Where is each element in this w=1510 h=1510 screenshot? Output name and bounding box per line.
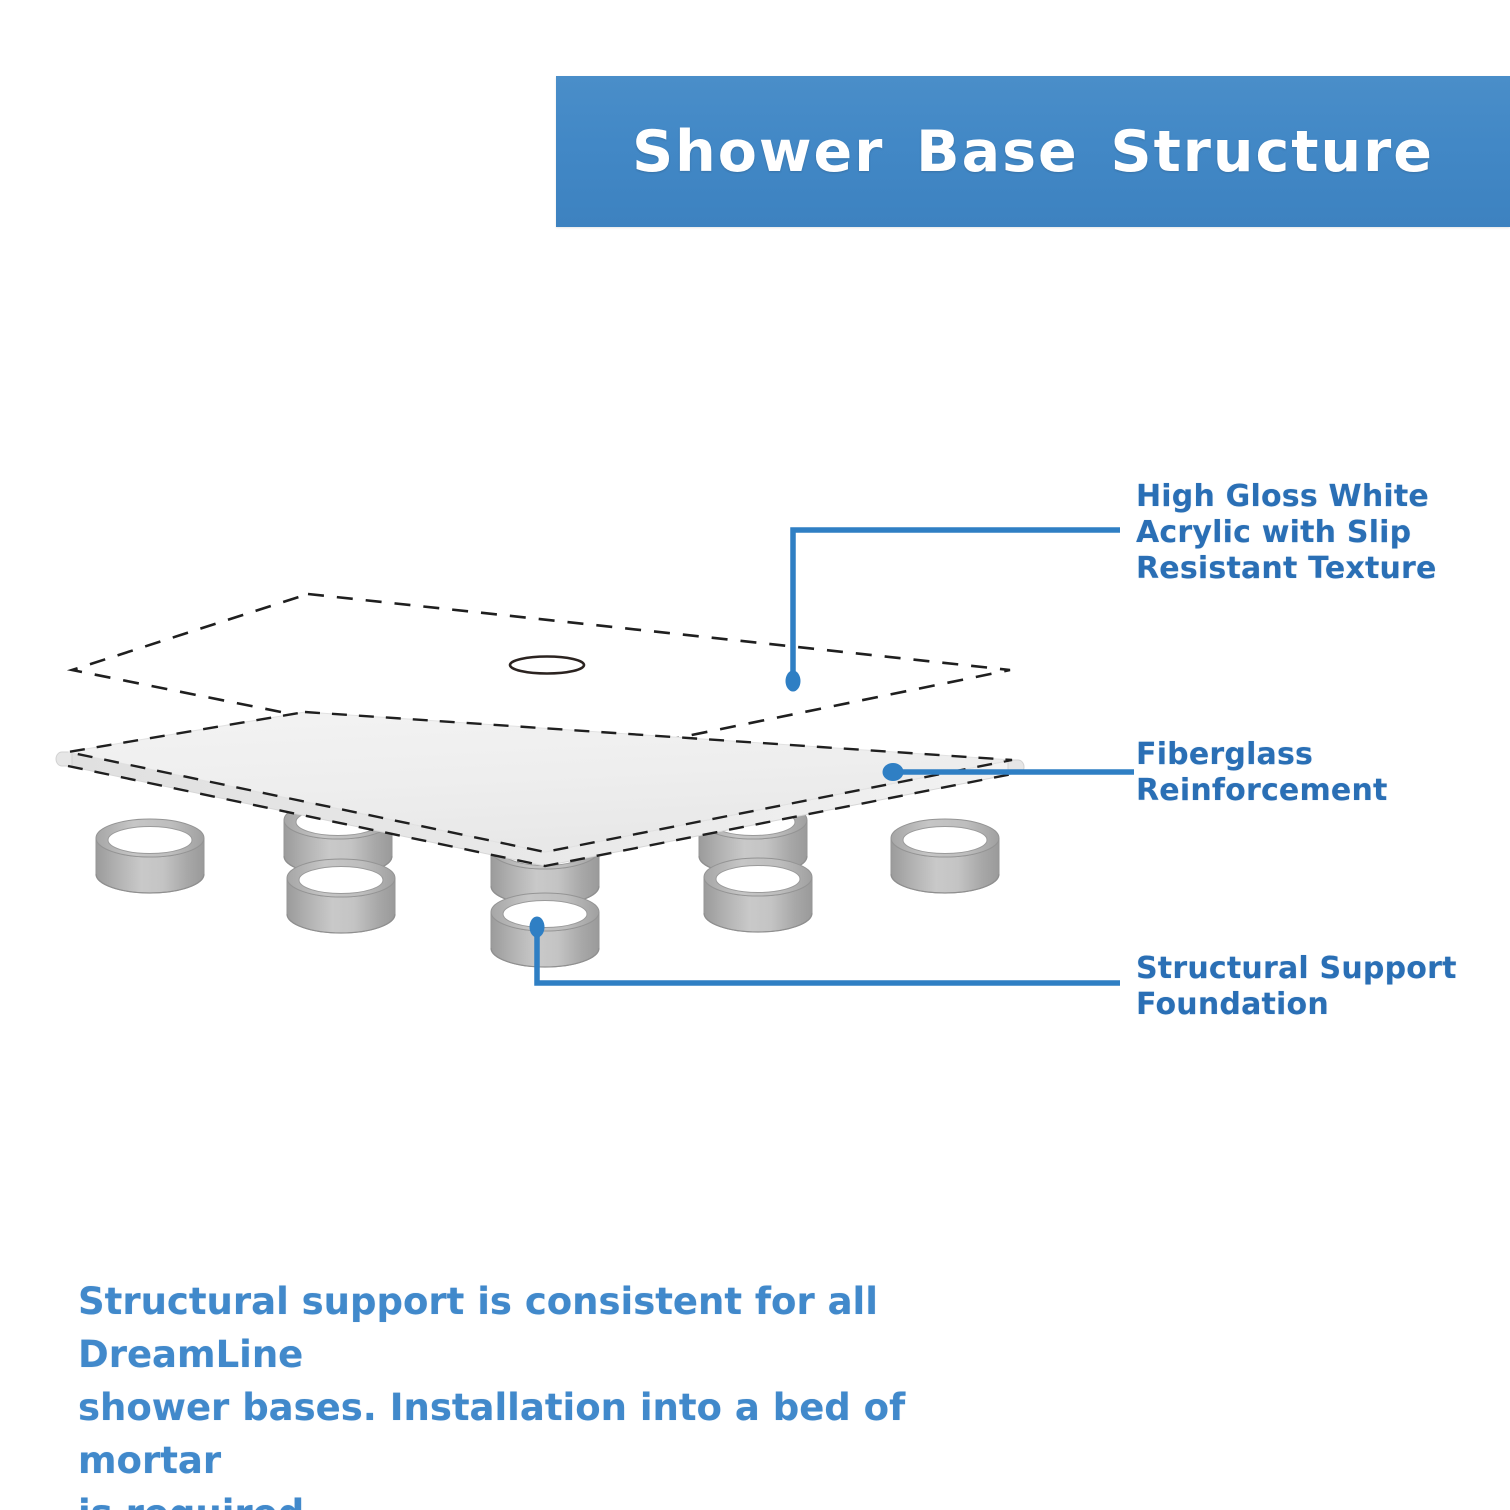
callout-label-structural-support: Structural Support Foundation	[1136, 951, 1466, 1023]
drain-opening	[510, 657, 584, 674]
leader-dot-structural-support	[530, 917, 545, 938]
callout-label-fiberglass: Fiberglass Reinforcement	[1136, 737, 1466, 809]
support-ring-mid-right	[704, 858, 812, 932]
support-ring-back-right	[891, 819, 999, 893]
support-ring-front-center	[491, 893, 599, 967]
diagram-page: Shower Base Structure	[0, 0, 1510, 1510]
leader-dot-acrylic	[786, 671, 801, 692]
leader-line-structural-support	[530, 917, 1121, 984]
leader-dot-fiberglass	[883, 763, 904, 781]
support-ring-back-left	[96, 819, 204, 893]
footer-note: Structural support is consistent for all…	[78, 1276, 1038, 1510]
callout-label-acrylic: High Gloss White Acrylic with Slip Resis…	[1136, 479, 1466, 587]
support-ring-mid-left	[287, 859, 395, 933]
leader-line-acrylic	[786, 530, 1121, 692]
